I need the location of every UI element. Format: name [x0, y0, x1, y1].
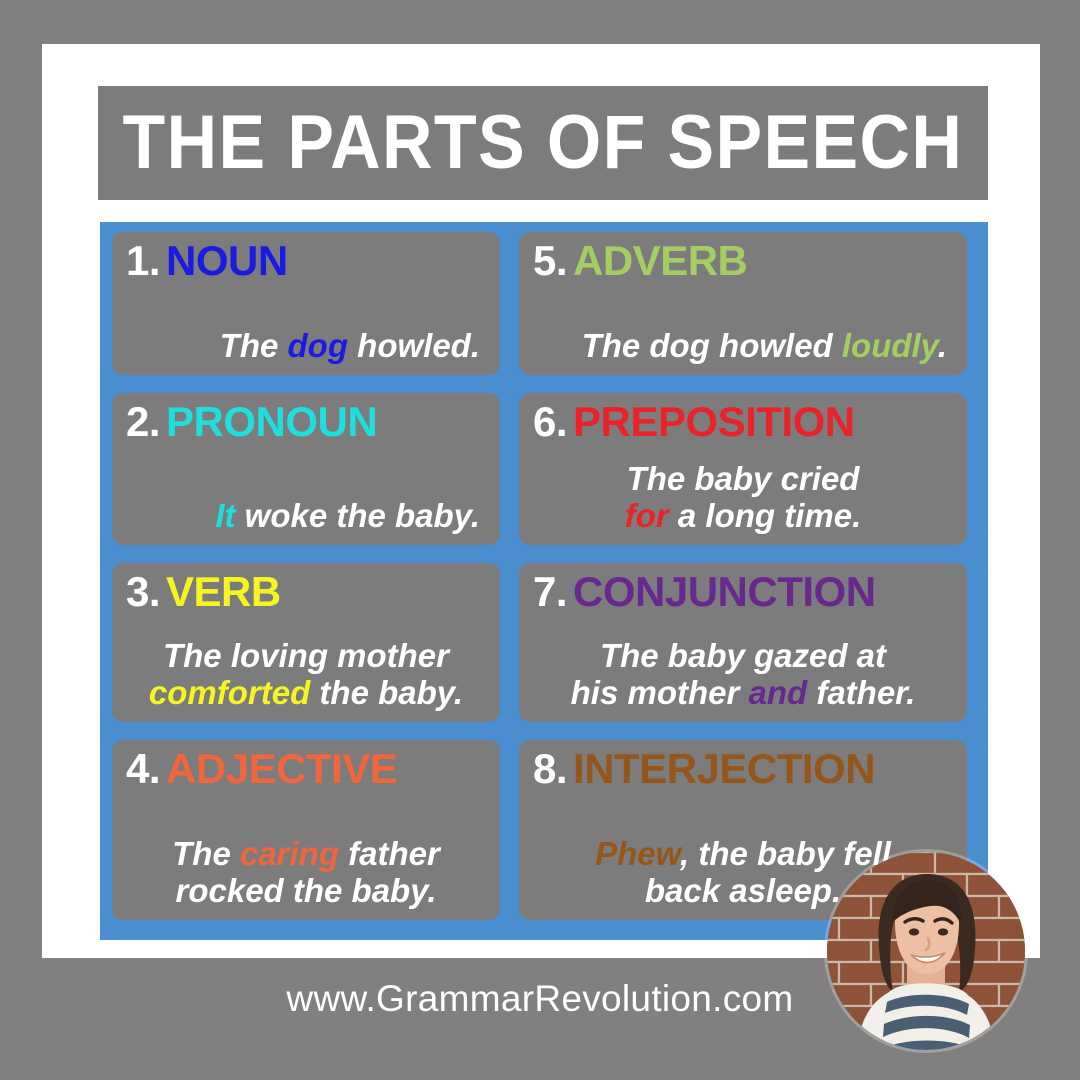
- part-of-speech-label: CONJUNCTION: [573, 568, 876, 615]
- card-number: 6.: [533, 398, 567, 445]
- infographic-poster: THE PARTS OF SPEECH 1.NOUNThe dog howled…: [0, 0, 1080, 1080]
- sentence-text: his mother: [571, 674, 749, 711]
- cards-panel: 1.NOUNThe dog howled.2.PRONOUNIt woke th…: [100, 222, 988, 940]
- card-number: 2.: [126, 398, 160, 445]
- card-noun: 1.NOUNThe dog howled.: [112, 232, 500, 375]
- card-conjunction: 7.CONJUNCTIONThe baby gazed athis mother…: [519, 563, 967, 722]
- sentence-text: The baby cried: [627, 460, 860, 497]
- sentence-text: The: [172, 835, 240, 872]
- card-heading: 4.ADJECTIVE: [126, 746, 486, 791]
- card-heading: 2.PRONOUN: [126, 399, 486, 444]
- part-of-speech-label: VERB: [166, 568, 281, 615]
- sentence-text: The: [220, 327, 288, 364]
- example-line: The caring father: [126, 835, 486, 873]
- example-sentence: The baby gazed athis mother and father.: [533, 637, 953, 712]
- sentence-text: father.: [807, 674, 915, 711]
- card-adverb: 5.ADVERBThe dog howled loudly.: [519, 232, 967, 375]
- sentence-text: back asleep.: [645, 872, 841, 909]
- card-pronoun: 2.PRONOUNIt woke the baby.: [112, 393, 500, 545]
- card-number: 8.: [533, 745, 567, 792]
- example-line: The baby gazed at: [533, 637, 953, 675]
- example-line: The dog howled.: [126, 327, 480, 365]
- title-banner: THE PARTS OF SPEECH: [98, 86, 988, 200]
- highlighted-word: and: [748, 674, 807, 711]
- highlighted-word: It: [215, 497, 235, 534]
- card-heading: 3.VERB: [126, 569, 486, 614]
- part-of-speech-label: INTERJECTION: [573, 745, 875, 792]
- example-line: The loving mother: [126, 637, 486, 675]
- example-line: The dog howled loudly.: [533, 327, 947, 365]
- example-sentence: The caring fatherrocked the baby.: [126, 835, 486, 910]
- avatar-photo-illustration: [827, 852, 1025, 1050]
- example-line: It woke the baby.: [126, 497, 480, 535]
- part-of-speech-label: PRONOUN: [166, 398, 377, 445]
- card-number: 1.: [126, 237, 160, 284]
- example-sentence: The dog howled loudly.: [533, 327, 953, 365]
- page-title: THE PARTS OF SPEECH: [123, 105, 964, 181]
- card-adjective: 4.ADJECTIVEThe caring fatherrocked the b…: [112, 740, 500, 920]
- cards-column-left: 1.NOUNThe dog howled.2.PRONOUNIt woke th…: [112, 232, 500, 928]
- card-number: 4.: [126, 745, 160, 792]
- highlighted-word: dog: [288, 327, 348, 364]
- part-of-speech-label: ADVERB: [573, 237, 747, 284]
- sentence-text: howled.: [348, 327, 480, 364]
- card-heading: 1.NOUN: [126, 238, 486, 283]
- card-heading: 5.ADVERB: [533, 238, 953, 283]
- example-line: for a long time.: [533, 497, 953, 535]
- avatar: [827, 852, 1025, 1050]
- highlighted-word: Phew: [595, 835, 680, 872]
- card-number: 7.: [533, 568, 567, 615]
- highlighted-word: for: [625, 497, 669, 534]
- card-heading: 8.INTERJECTION: [533, 746, 953, 791]
- card-preposition: 6.PREPOSITIONThe baby criedfor a long ti…: [519, 393, 967, 545]
- example-sentence: It woke the baby.: [126, 497, 486, 535]
- sentence-text: The loving mother: [163, 637, 449, 674]
- sentence-text: .: [938, 327, 947, 364]
- highlighted-word: caring: [240, 835, 339, 872]
- sentence-text: The dog howled: [582, 327, 842, 364]
- part-of-speech-label: ADJECTIVE: [166, 745, 397, 792]
- highlighted-word: loudly: [842, 327, 938, 364]
- part-of-speech-label: NOUN: [166, 237, 288, 284]
- cards-column-right: 5.ADVERBThe dog howled loudly.6.PREPOSIT…: [519, 232, 967, 928]
- example-sentence: The loving mothercomforted the baby.: [126, 637, 486, 712]
- sentence-text: woke the baby.: [235, 497, 480, 534]
- sentence-text: father: [339, 835, 440, 872]
- sentence-text: rocked the baby.: [175, 872, 436, 909]
- part-of-speech-label: PREPOSITION: [573, 398, 855, 445]
- sentence-text: a long time.: [669, 497, 862, 534]
- card-heading: 6.PREPOSITION: [533, 399, 953, 444]
- highlighted-word: comforted: [149, 674, 310, 711]
- example-sentence: The dog howled.: [126, 327, 486, 365]
- example-sentence: The baby criedfor a long time.: [533, 460, 953, 535]
- card-number: 3.: [126, 568, 160, 615]
- card-verb: 3.VERBThe loving mothercomforted the bab…: [112, 563, 500, 722]
- sentence-text: , the baby fell: [680, 835, 891, 872]
- sentence-text: the baby.: [310, 674, 463, 711]
- example-line: The baby cried: [533, 460, 953, 498]
- sentence-text: The baby gazed at: [600, 637, 886, 674]
- example-line: rocked the baby.: [126, 872, 486, 910]
- example-line: comforted the baby.: [126, 674, 486, 712]
- example-line: his mother and father.: [533, 674, 953, 712]
- card-number: 5.: [533, 237, 567, 284]
- card-heading: 7.CONJUNCTION: [533, 569, 953, 614]
